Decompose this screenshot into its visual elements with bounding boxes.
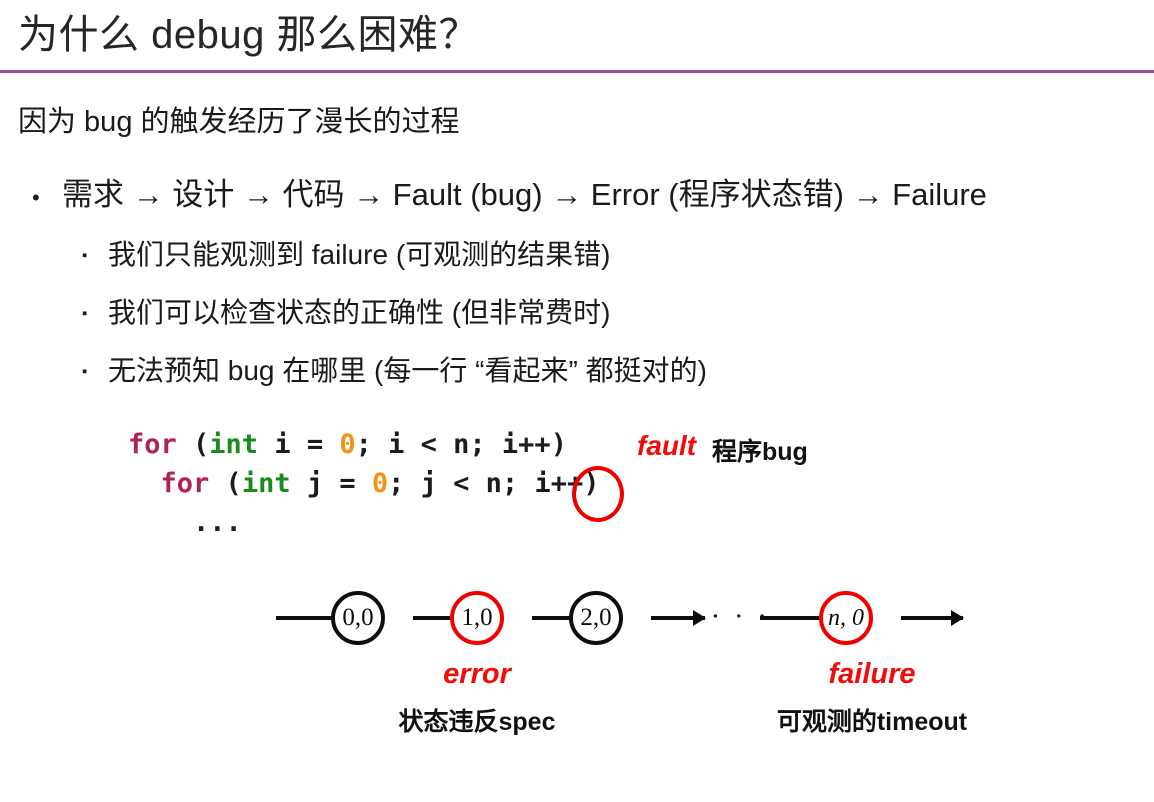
bullet-square-icon: ▪ [82,364,108,379]
code-token-type: int [242,468,291,499]
bullet-level1-text: 需求 → 设计 → 代码 → Fault (bug) → Error (程序状态… [62,169,987,214]
code-token-plain: ; j < n; i++) [388,468,599,499]
state-node-n-0: n, 0 [819,591,873,645]
bullet-level2-observe-failure: ▪ 我们只能观测到 failure (可观测的结果错) [82,233,610,273]
state-node-0-0: 0,0 [331,591,385,645]
code-token-plain: ( [209,468,242,499]
code-token-type: int [209,429,258,460]
bullet-square-icon: ▪ [82,306,108,321]
code-token-num: 0 [372,468,388,499]
page-title: 为什么 debug 那么困难？ [18,6,479,64]
bullet-level2-text: 我们可以检查状态的正确性 (但非常费时) [108,291,610,331]
code-token-plain: ( [177,429,210,460]
code-token-num: 0 [339,429,355,460]
bullet-level2-text: 无法预知 bug 在哪里 (每一行 “看起来” 都挺对的) [108,349,707,389]
code-line: ... [128,503,599,542]
bullet-square-icon: ▪ [82,248,108,263]
fault-annotation-label-zh: 程序bug [712,432,808,468]
state-transition-diagram: ⋅ ⋅ ⋅ 0,0 1,0 2,0 n, 0 error failure 状态违… [270,580,990,660]
state-node-2-0: 2,0 [569,591,623,645]
error-caption: 状态违反spec [399,702,556,738]
code-snippet: for (int i = 0; i < n; i++) for (int j =… [128,425,599,542]
failure-caption: 可观测的timeout [777,702,967,738]
lead-paragraph: 因为 bug 的触发经历了漫长的过程 [18,98,460,140]
bullet-level2-check-state: ▪ 我们可以检查状态的正确性 (但非常费时) [82,291,610,331]
state-node-1-0: 1,0 [450,591,504,645]
code-token-kw: for [161,468,210,499]
code-token-kw: for [128,429,177,460]
code-token-plain: j = [291,468,372,499]
code-line: for (int i = 0; i < n; i++) [128,425,599,464]
bullet-dot-icon: • [32,187,62,209]
arrow-2-to-next [651,616,705,620]
failure-label: failure [828,658,915,691]
code-token-plain [128,468,161,499]
bullet-level2-unknown-bug-location: ▪ 无法预知 bug 在哪里 (每一行 “看起来” 都挺对的) [82,349,707,389]
fault-annotation-label: fault [637,430,696,462]
bullet-level2-text: 我们只能观测到 failure (可观测的结果错) [108,233,610,273]
code-token-plain: ; i < n; i++) [356,429,567,460]
error-label: error [443,658,511,691]
code-line: for (int j = 0; j < n; i++) [128,464,599,503]
arrow-out-of-n-state [901,616,963,620]
code-token-plain: ... [128,507,242,538]
bullet-level1-pipeline: • 需求 → 设计 → 代码 → Fault (bug) → Error (程序… [32,169,987,214]
code-token-plain: i = [258,429,339,460]
diagram-ellipsis: ⋅ ⋅ ⋅ [711,602,771,632]
red-ellipse-highlight-icon [572,466,624,522]
title-divider [0,70,1154,73]
